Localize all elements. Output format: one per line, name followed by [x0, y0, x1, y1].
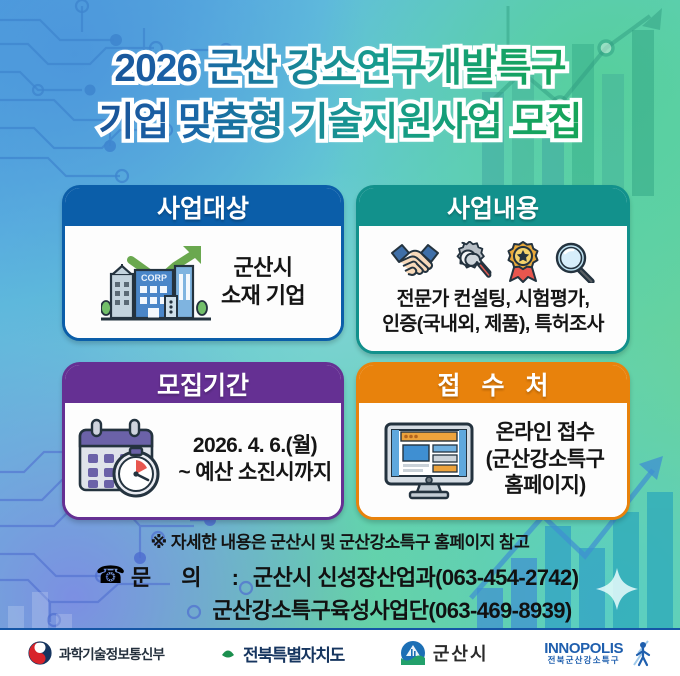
city-buildings-growth-icon: CORP	[101, 236, 213, 328]
title-line-2: 기업 맞춤형 기술지원사업 모집 기업 맞춤형 기술지원사업 모집	[0, 96, 680, 150]
card-application-period-text-line-1: 2026. 4. 6.(월)	[178, 433, 331, 460]
logo-innopolis: INNOPOLIS 전북군산강소특구	[544, 639, 652, 667]
card-business-content-text: 전문가 컨설팅, 시험평가, 인증(국내외, 제품), 특허조사	[382, 287, 604, 337]
handshake-icon	[390, 241, 440, 283]
contact-line-primary: ☎ 문 의 : 군산시 신성장산업과(063-454-2742)	[96, 560, 579, 592]
card-business-content-text-line-1: 전문가 컨설팅, 시험평가,	[382, 287, 604, 312]
card-business-target-header: 사업대상	[65, 188, 341, 226]
logo-gunsan-label: 군산시	[433, 640, 489, 666]
card-business-target-text: 군산시 소재 기업	[221, 254, 305, 310]
contact-department-1: 군산시 신성장산업과(063-454-2742)	[253, 560, 579, 592]
taegeuk-icon	[28, 641, 52, 665]
card-application-channel-text: 온라인 접수 (군산강소특구 홈페이지)	[486, 420, 605, 501]
gear-wrench-icon	[449, 241, 493, 283]
logo-bar: 과학기술정보통신부 전북특별자치도 군산시 INNOPOLIS 전북군산강소특구	[0, 628, 680, 676]
card-business-target-text-line-2: 소재 기업	[221, 282, 305, 310]
inquiry-label: 문 의 :	[131, 560, 251, 592]
card-application-period-text-line-2: ~ 예산 소진시까지	[178, 460, 331, 487]
card-application-period-body: 2026. 4. 6.(월) ~ 예산 소진시까지	[65, 403, 341, 517]
contact-block: ☎ 문 의 : 군산시 신성장산업과(063-454-2742) 군산강소특구육…	[0, 560, 680, 625]
svg-text:CORP: CORP	[141, 273, 167, 283]
logo-jeonbuk: 전북특별자치도	[220, 641, 344, 666]
title-line-1: 2026 군산 강소연구개발특구 2026 군산 강소연구개발특구	[0, 42, 680, 96]
logo-msit: 과학기술정보통신부	[28, 641, 164, 665]
card-application-channel-header: 접 수 처	[359, 365, 627, 403]
telephone-icon: ☎	[96, 564, 125, 588]
magnifier-icon	[553, 241, 597, 283]
card-application-channel-text-line-1: 온라인 접수	[486, 420, 605, 447]
poster-title: 2026 군산 강소연구개발특구 2026 군산 강소연구개발특구 기업 맞춤형…	[0, 42, 680, 150]
poster-canvas: 2026 군산 강소연구개발특구 2026 군산 강소연구개발특구 기업 맞춤형…	[0, 0, 680, 676]
card-application-channel: 접 수 처	[356, 362, 630, 520]
card-application-period-header: 모집기간	[65, 365, 341, 403]
card-business-content-icons	[390, 241, 597, 283]
logo-msit-label: 과학기술정보통신부	[59, 643, 164, 663]
card-application-period-text: 2026. 4. 6.(월) ~ 예산 소진시까지	[178, 433, 331, 487]
title-line-2-fill: 기업 맞춤형 기술지원사업 모집	[0, 96, 680, 150]
card-application-channel-text-line-2: (군산강소특구	[486, 447, 605, 474]
award-medal-icon	[502, 241, 544, 283]
card-business-target: 사업대상 CORP	[62, 185, 344, 341]
card-application-channel-body: 온라인 접수 (군산강소특구 홈페이지)	[359, 403, 627, 517]
gunsan-city-mark-icon	[400, 640, 426, 666]
card-application-channel-text-line-3: 홈페이지)	[486, 473, 605, 500]
logo-innopolis-sublabel: 전북군산강소특구	[548, 656, 620, 665]
calendar-stopwatch-icon	[74, 418, 170, 502]
card-business-target-body: CORP 군산시 소재 기	[65, 226, 341, 338]
reference-note: ※ 자세한 내용은 군산시 및 군산강소특구 홈페이지 참고	[0, 528, 680, 553]
logo-jeonbuk-label: 전북특별자치도	[243, 641, 344, 666]
card-business-content-header: 사업내용	[359, 188, 627, 226]
logo-gunsan: 군산시	[400, 640, 489, 666]
card-business-content-text-line-2: 인증(국내외, 제품), 특허조사	[382, 312, 604, 337]
card-application-period: 모집기간	[62, 362, 344, 520]
contact-line-secondary: 군산강소특구육성사업단(063-469-8939)	[212, 593, 571, 625]
card-business-content-body: 전문가 컨설팅, 시험평가, 인증(국내외, 제품), 특허조사	[359, 226, 627, 351]
desktop-monitor-icon	[382, 418, 478, 502]
jeonbuk-mark-icon	[220, 645, 236, 661]
logo-innopolis-label: INNOPOLIS	[544, 641, 623, 657]
card-business-content: 사업내용	[356, 185, 630, 354]
card-business-target-text-line-1: 군산시	[221, 254, 305, 282]
contact-department-2: 군산강소특구육성사업단(063-469-8939)	[212, 593, 571, 625]
innopolis-icon	[630, 639, 652, 667]
title-line-1-fill: 2026 군산 강소연구개발특구	[0, 42, 680, 96]
